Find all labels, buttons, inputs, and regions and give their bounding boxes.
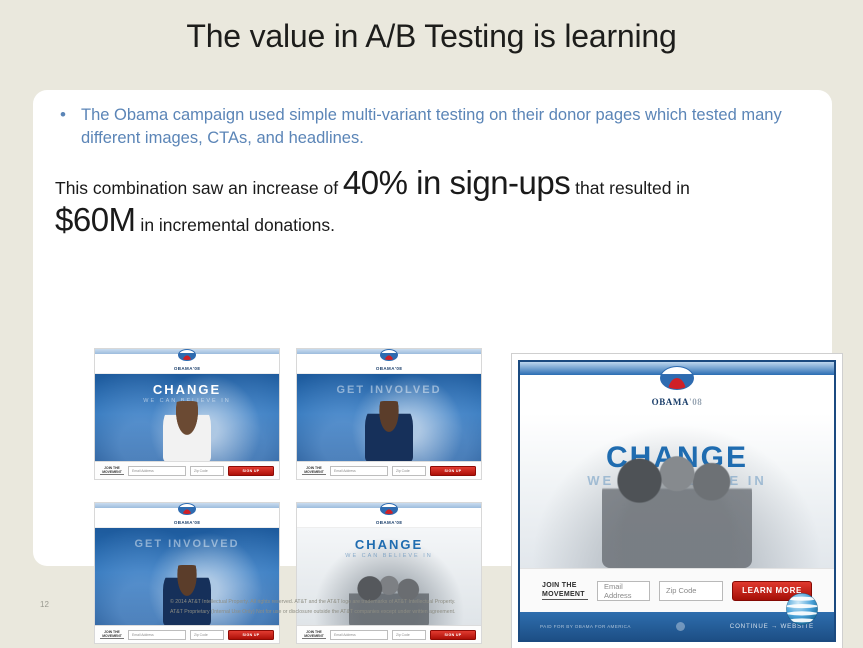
- featured-zip-input[interactable]: Zip Code: [659, 581, 723, 601]
- thumb4-logo-bar: OBAMA'08: [297, 508, 481, 528]
- obama-family-image: [602, 453, 752, 568]
- bullet-item: • The Obama campaign used simple multi-v…: [55, 104, 815, 150]
- page-title: The value in A/B Testing is learning: [0, 18, 863, 55]
- thumb3-headline-group: GET INVOLVED: [95, 538, 279, 550]
- thumb1-email-input[interactable]: Email Address: [128, 466, 186, 476]
- thumb3-wordmark: OBAMA'08: [174, 520, 200, 525]
- stat-percent-value: 40%: [343, 164, 408, 201]
- stat-paragraph: This combination saw an increase of 40% …: [55, 166, 795, 236]
- thumb1-wordmark: OBAMA'08: [174, 366, 200, 371]
- thumb1-headline: CHANGE: [95, 382, 279, 397]
- featured-hero: CHANGE WE CAN BELIEVE IN: [520, 413, 834, 568]
- thumb3-signup-form[interactable]: JOIN THE MOVEMENT Email Address Zip Code…: [95, 625, 279, 643]
- obama-seal-icon: [178, 349, 196, 361]
- bullet-text: The Obama campaign used simple multi-var…: [81, 104, 799, 150]
- obama-seal-icon: [660, 366, 694, 390]
- obama-portrait-image: [365, 401, 413, 463]
- thumb1-logo-bar: OBAMA'08: [95, 354, 279, 374]
- stat-donations-label: in incremental donations.: [136, 215, 335, 235]
- thumbnail-variant-2[interactable]: OBAMA'08 GET INVOLVED JOIN THE MOVEMENT …: [296, 348, 482, 480]
- thumbnail-variant-4[interactable]: OBAMA'08 CHANGE WE CAN BELIEVE IN JOIN T…: [296, 502, 482, 644]
- thumb4-headline-group: CHANGE WE CAN BELIEVE IN: [297, 537, 481, 559]
- slide-canvas: The value in A/B Testing is learning • T…: [0, 0, 863, 648]
- featured-wordmark-year: '08: [689, 397, 702, 407]
- thumb4-subhead: WE CAN BELIEVE IN: [297, 553, 481, 559]
- legal-disclaimer: © 2014 AT&T Intellectual Property. All r…: [170, 598, 590, 617]
- thumbnail-variant-1[interactable]: OBAMA'08 CHANGE WE CAN BELIEVE IN JOIN T…: [94, 348, 280, 480]
- thumb2-email-input[interactable]: Email Address: [330, 466, 388, 476]
- thumb2-logo-bar: OBAMA'08: [297, 354, 481, 374]
- thumb2-zip-input[interactable]: Zip Code: [392, 466, 426, 476]
- thumb2-hero: GET INVOLVED: [297, 374, 481, 463]
- stat-dollar-value: $60M: [55, 201, 136, 238]
- thumb3-logo-bar: OBAMA'08: [95, 508, 279, 528]
- thumb3-signup-button[interactable]: SIGN UP: [228, 630, 274, 640]
- bullet-marker-icon: •: [55, 104, 81, 150]
- thumb2-headline: GET INVOLVED: [297, 384, 481, 396]
- legal-line-2: AT&T Proprietary (Internal Use Only) Not…: [170, 608, 590, 618]
- att-globe-logo-icon: [779, 586, 825, 632]
- page-number: 12: [40, 600, 49, 609]
- thumb4-headline: CHANGE: [297, 537, 481, 552]
- content-card: • The Obama campaign used simple multi-v…: [33, 90, 832, 566]
- obama-seal-icon: [380, 349, 398, 361]
- obama-portrait-image: [163, 401, 211, 463]
- featured-email-input[interactable]: Email Address: [597, 581, 650, 601]
- thumb2-wordmark: OBAMA'08: [376, 366, 402, 371]
- thumb4-join-label: JOIN THE MOVEMENT: [302, 630, 326, 640]
- featured-footer-dot-icon: [676, 622, 685, 631]
- thumb2-join-label: JOIN THE MOVEMENT: [302, 466, 326, 476]
- thumb4-wordmark: OBAMA'08: [376, 520, 402, 525]
- thumb4-signup-button[interactable]: SIGN UP: [430, 630, 476, 640]
- stat-pre-text: This combination saw an increase of: [55, 178, 343, 198]
- stat-post-text: that resulted in: [570, 178, 690, 198]
- thumb1-zip-input[interactable]: Zip Code: [190, 466, 224, 476]
- legal-line-1: © 2014 AT&T Intellectual Property. All r…: [170, 598, 590, 608]
- obama-portrait-image: [163, 565, 211, 627]
- thumb3-headline: GET INVOLVED: [95, 538, 279, 550]
- thumb1-join-label: JOIN THE MOVEMENT: [100, 466, 124, 476]
- featured-paid-for-text: PAID FOR BY OBAMA FOR AMERICA: [540, 624, 631, 629]
- thumb1-signup-form[interactable]: JOIN THE MOVEMENT Email Address Zip Code…: [95, 461, 279, 479]
- featured-wordmark-name: OBAMA: [652, 397, 690, 407]
- obama-seal-icon: [380, 503, 398, 515]
- featured-wordmark: OBAMA'08: [652, 397, 703, 407]
- thumb3-email-input[interactable]: Email Address: [128, 630, 186, 640]
- thumb4-email-input[interactable]: Email Address: [330, 630, 388, 640]
- thumb2-headline-group: GET INVOLVED: [297, 384, 481, 396]
- thumbnail-variant-3[interactable]: OBAMA'08 GET INVOLVED JOIN THE MOVEMENT …: [94, 502, 280, 644]
- thumb3-join-label: JOIN THE MOVEMENT: [100, 630, 124, 640]
- thumb2-signup-form[interactable]: JOIN THE MOVEMENT Email Address Zip Code…: [297, 461, 481, 479]
- stat-signups-label: in sign-ups: [407, 164, 570, 201]
- thumb1-signup-button[interactable]: SIGN UP: [228, 466, 274, 476]
- thumb2-signup-button[interactable]: SIGN UP: [430, 466, 476, 476]
- featured-logo-bar: OBAMA'08: [520, 375, 834, 413]
- thumb3-zip-input[interactable]: Zip Code: [190, 630, 224, 640]
- thumb4-signup-form[interactable]: JOIN THE MOVEMENT Email Address Zip Code…: [297, 625, 481, 643]
- thumb4-zip-input[interactable]: Zip Code: [392, 630, 426, 640]
- obama-seal-icon: [178, 503, 196, 515]
- thumb1-hero: CHANGE WE CAN BELIEVE IN: [95, 374, 279, 463]
